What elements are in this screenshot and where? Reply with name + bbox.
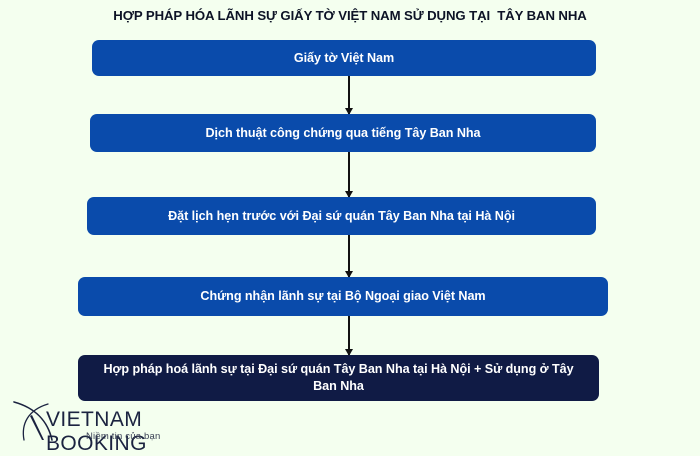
flow-step-5: Hợp pháp hoá lãnh sự tại Đại sứ quán Tây…: [78, 355, 599, 401]
brand-logo: VIETNAM BOOKING Niềm tin của bạn: [8, 398, 208, 446]
flow-step-4-label: Chứng nhận lãnh sự tại Bộ Ngoại giao Việ…: [200, 288, 485, 305]
flowchart-diagram: HỢP PHÁP HÓA LÃNH SỰ GIẤY TỜ VIỆT NAM SỬ…: [0, 0, 700, 450]
flow-step-4: Chứng nhận lãnh sự tại Bộ Ngoại giao Việ…: [78, 277, 608, 316]
connector-arrow-4-to-5: [348, 316, 350, 355]
flow-step-1: Giấy tờ Việt Nam: [92, 40, 596, 76]
flow-step-2-label: Dịch thuật công chứng qua tiếng Tây Ban …: [206, 125, 481, 142]
logo-tagline: Niềm tin của bạn: [86, 431, 161, 442]
flow-step-5-label: Hợp pháp hoá lãnh sự tại Đại sứ quán Tây…: [90, 361, 587, 395]
flow-step-2: Dịch thuật công chứng qua tiếng Tây Ban …: [90, 114, 596, 152]
flow-step-3-label: Đặt lịch hẹn trước với Đại sứ quán Tây B…: [168, 208, 515, 225]
connector-arrow-2-to-3: [348, 152, 350, 197]
connector-arrow-3-to-4: [348, 235, 350, 277]
connector-arrow-1-to-2: [348, 76, 350, 114]
page-title: HỢP PHÁP HÓA LÃNH SỰ GIẤY TỜ VIỆT NAM SỬ…: [0, 8, 700, 23]
flow-step-3: Đặt lịch hẹn trước với Đại sứ quán Tây B…: [87, 197, 596, 235]
flow-step-1-label: Giấy tờ Việt Nam: [294, 50, 394, 67]
